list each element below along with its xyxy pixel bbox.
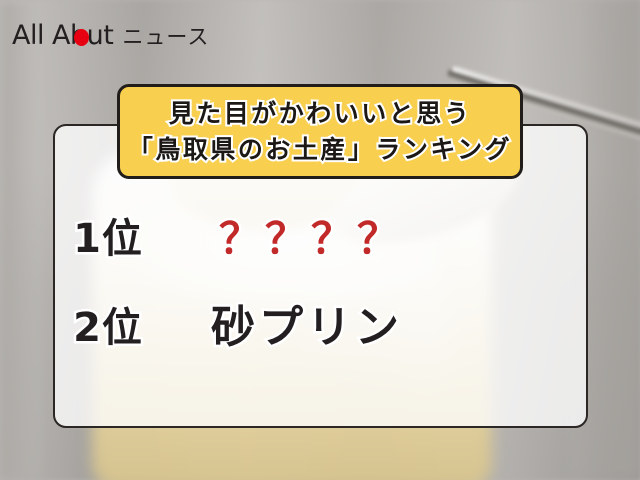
title-line-1: 見た目がかわいいと思う (169, 97, 472, 131)
title-card: 見た目がかわいいと思う 「鳥取県のお土産」ランキング (117, 84, 523, 179)
logo-wordmark: All Abut (12, 22, 113, 49)
all-about-logo: All Abut ニュース (12, 22, 209, 49)
logo-news-label: ニュース (122, 27, 209, 48)
rank-label-2: 2位 (53, 308, 163, 348)
logo-wordmark-suffix: ut (87, 20, 114, 51)
rank-value-1-hidden: ？？？？ (219, 218, 403, 260)
ranking-row-2: 2位 砂プリン (53, 306, 588, 350)
rank-value-2: 砂プリン (211, 306, 403, 350)
red-dot-icon (74, 29, 89, 46)
ranking-row-1: 1位 ？？？？ (53, 218, 588, 260)
rank-label-1: 1位 (53, 219, 163, 259)
title-line-2: 「鳥取県のお土産」ランキング (128, 133, 512, 167)
screenshot-root: All Abut ニュース 見た目がかわいいと思う 「鳥取県のお土産」ランキング… (0, 0, 640, 480)
